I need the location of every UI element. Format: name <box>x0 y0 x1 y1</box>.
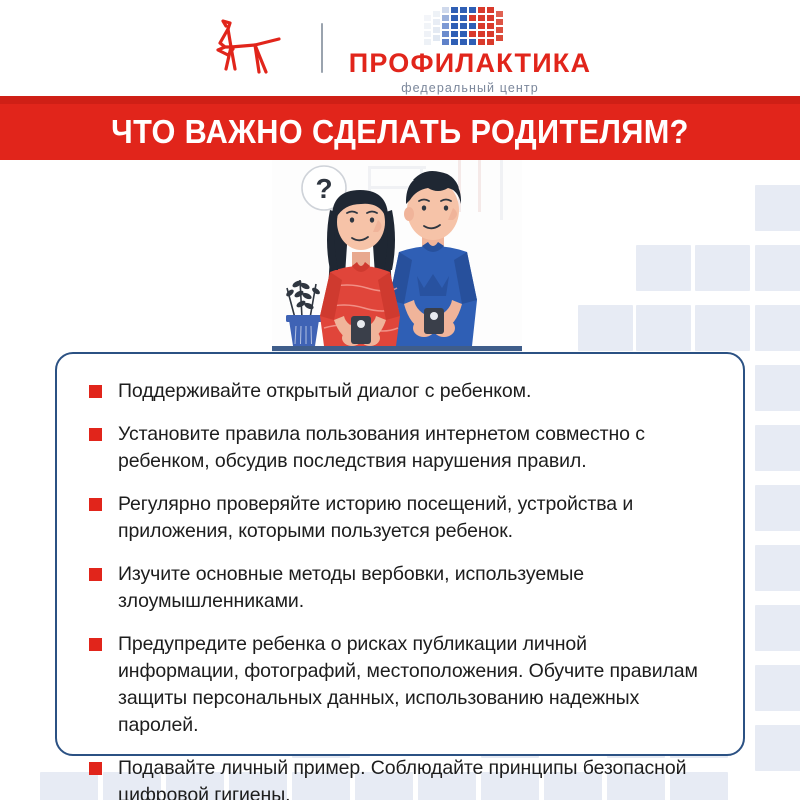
brand-subtitle: федеральный центр <box>401 82 539 95</box>
bg-square <box>755 365 800 411</box>
bg-square <box>755 425 800 471</box>
list-item: Регулярно проверяйте историю посещений, … <box>89 491 713 545</box>
bg-square <box>695 305 750 351</box>
bg-square <box>755 605 800 651</box>
bullet-square-icon <box>89 385 102 398</box>
recommendations-list: Поддерживайте открытый диалог с ребенком… <box>89 378 713 800</box>
svg-text:?: ? <box>315 173 332 204</box>
logo-divider <box>321 23 323 73</box>
bg-square <box>578 305 633 351</box>
bg-square <box>755 545 800 591</box>
bg-square <box>755 665 800 711</box>
list-item-label: Установите правила пользования интернето… <box>118 421 713 475</box>
bullet-square-icon <box>89 498 102 511</box>
list-item-label: Поддерживайте открытый диалог с ребенком… <box>118 378 531 405</box>
parent-and-teen-illustration: ? <box>272 160 522 360</box>
list-item: Установите правила пользования интернето… <box>89 421 713 475</box>
bg-square <box>755 245 800 291</box>
list-item-label: Регулярно проверяйте историю посещений, … <box>118 491 713 545</box>
pixel-grid-logo-icon <box>424 3 516 45</box>
banner-top-strip <box>0 96 800 104</box>
list-item: Изучите основные методы вербовки, исполь… <box>89 561 713 615</box>
bullet-square-icon <box>89 638 102 651</box>
list-item-label: Изучите основные методы вербовки, исполь… <box>118 561 713 615</box>
bg-square <box>695 245 750 291</box>
title-banner: ЧТО ВАЖНО СДЕЛАТЬ РОДИТЕЛЯМ? <box>0 96 800 160</box>
page-title: ЧТО ВАЖНО СДЕЛАТЬ РОДИТЕЛЯМ? <box>28 104 772 160</box>
list-item-label: Предупредите ребенка о рисках публикации… <box>118 631 713 739</box>
bg-square <box>755 185 800 231</box>
list-item: Подавайте личный пример. Соблюдайте прин… <box>89 755 713 800</box>
brand-name: ПРОФИЛАКТИКА <box>349 50 591 77</box>
girl-figure <box>320 190 400 346</box>
list-item: Поддерживайте открытый диалог с ребенком… <box>89 378 713 405</box>
list-item: Предупредите ребенка о рисках публикации… <box>89 631 713 739</box>
recommendations-card: Поддерживайте открытый диалог с ребенком… <box>55 352 745 756</box>
deer-line-logo-icon <box>209 17 295 79</box>
bg-square <box>755 725 800 771</box>
brand-logo-block: ПРОФИЛАКТИКА федеральный центр <box>349 1 591 95</box>
bullet-square-icon <box>89 568 102 581</box>
infographic-poster: ПРОФИЛАКТИКА федеральный центр ЧТО ВАЖНО… <box>0 0 800 800</box>
list-item-label: Подавайте личный пример. Соблюдайте прин… <box>118 755 713 800</box>
bg-square <box>636 245 691 291</box>
header-logo-bar: ПРОФИЛАКТИКА федеральный центр <box>0 0 800 96</box>
bg-square <box>636 305 691 351</box>
bullet-square-icon <box>89 428 102 441</box>
bullet-square-icon <box>89 762 102 775</box>
bg-square <box>755 485 800 531</box>
bg-square <box>755 305 800 351</box>
